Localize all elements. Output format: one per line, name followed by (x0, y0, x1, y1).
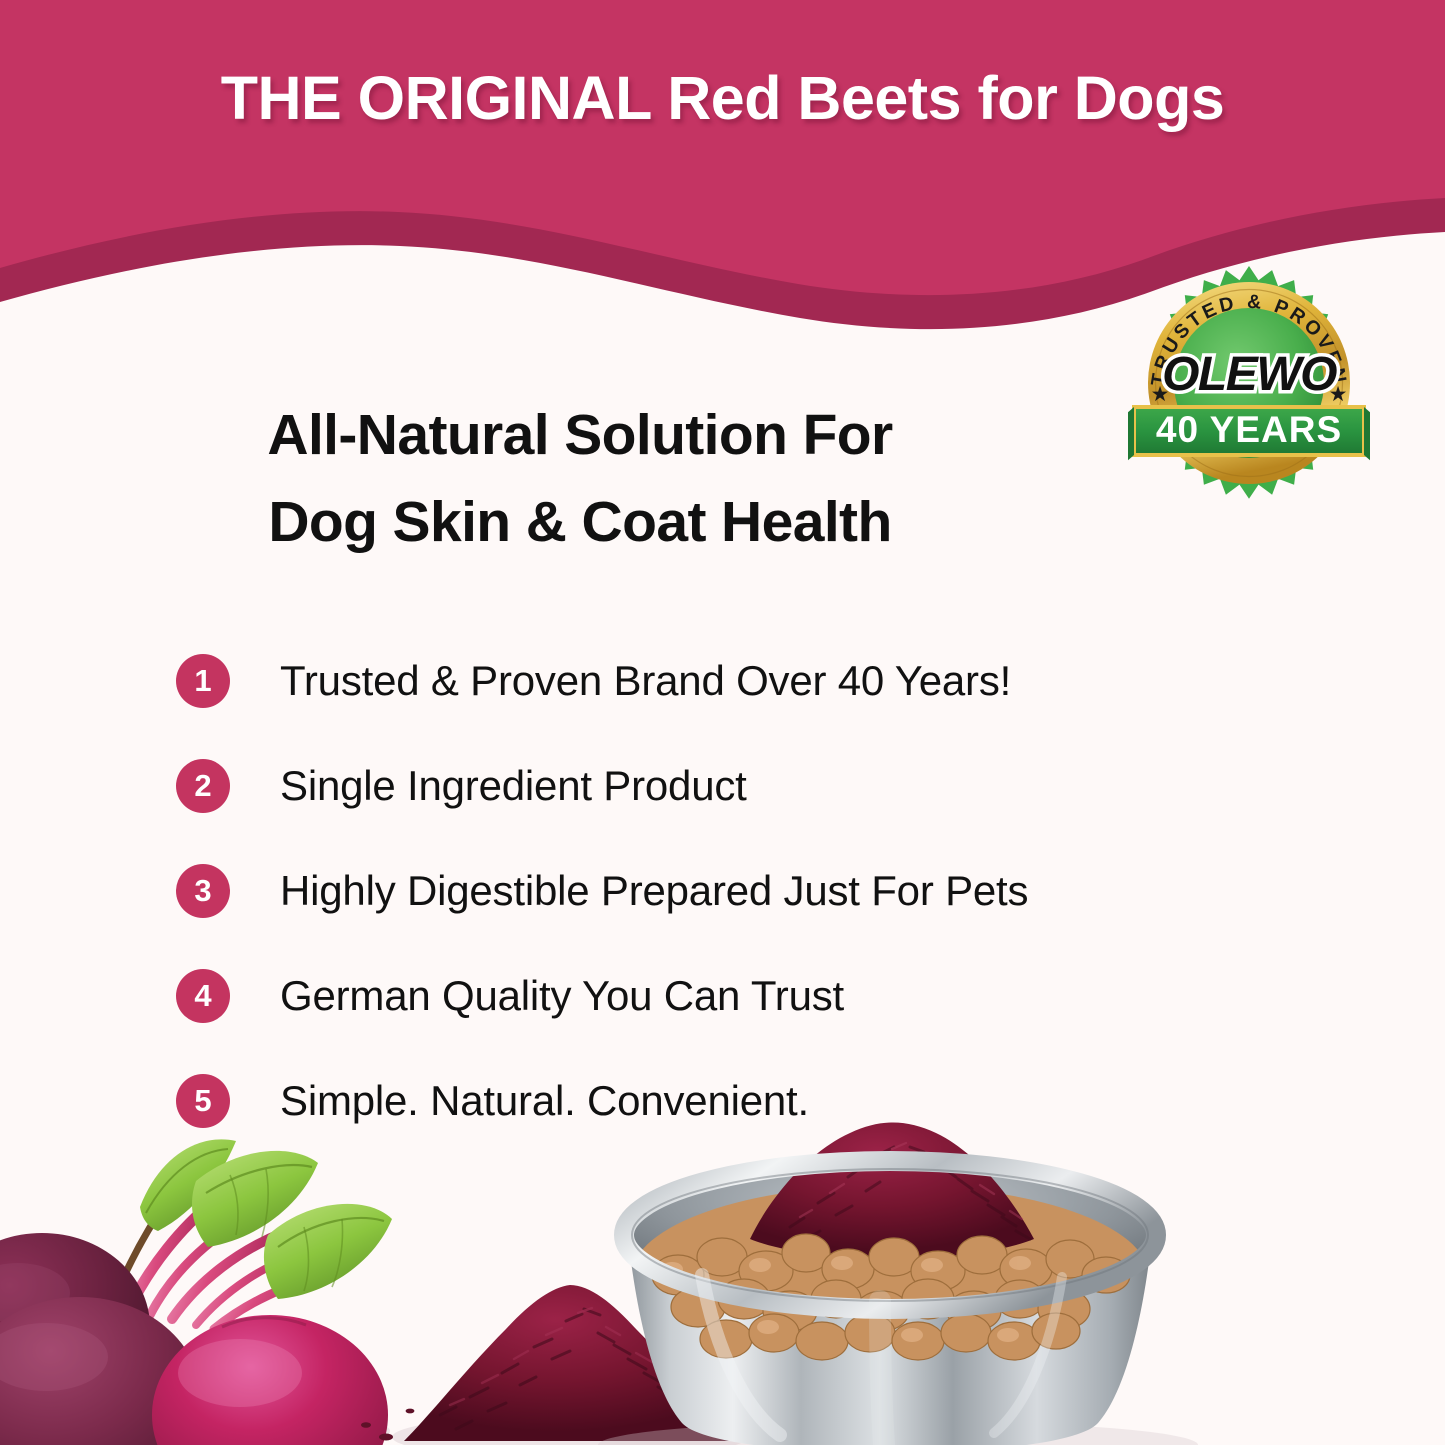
list-item: 5 Simple. Natural. Convenient. (176, 1048, 1356, 1153)
seal-ribbon: 40 YEARS (1128, 407, 1370, 462)
headline-line-2: Dog Skin & Coat Health (0, 479, 1160, 566)
list-item: 2 Single Ingredient Product (176, 733, 1356, 838)
list-number-badge: 4 (176, 969, 230, 1023)
list-item-label: German Quality You Can Trust (280, 972, 844, 1020)
seal-brand-wordmark: OLEWO (1162, 348, 1337, 401)
fresh-beets-image (0, 1139, 392, 1445)
feature-list: 1 Trusted & Proven Brand Over 40 Years! … (176, 628, 1356, 1153)
headline-line-1: All-Natural Solution For (0, 392, 1160, 479)
list-number-badge: 3 (176, 864, 230, 918)
dog-bowl-image (598, 1123, 1198, 1445)
infographic-page: THE ORIGINAL Red Beets for Dogs (0, 0, 1445, 1445)
list-item: 1 Trusted & Proven Brand Over 40 Years! (176, 628, 1356, 733)
list-item-label: Simple. Natural. Convenient. (280, 1077, 809, 1125)
olewo-trusted-proven-seal-badge: TRUSTED & PROVEN ★ ★ OLEWO 40 YEARS (1128, 262, 1370, 504)
headline: All-Natural Solution For Dog Skin & Coat… (0, 392, 1160, 565)
list-number-badge: 1 (176, 654, 230, 708)
list-item-label: Highly Digestible Prepared Just For Pets (280, 867, 1028, 915)
list-number-badge: 5 (176, 1074, 230, 1128)
product-imagery (0, 1115, 1445, 1445)
list-item-label: Trusted & Proven Brand Over 40 Years! (280, 657, 1011, 705)
page-title: THE ORIGINAL Red Beets for Dogs (0, 63, 1445, 133)
svg-text:OLEWO: OLEWO (1162, 348, 1337, 401)
list-item: 3 Highly Digestible Prepared Just For Pe… (176, 838, 1356, 943)
list-number-badge: 2 (176, 759, 230, 813)
seal-ribbon-text: 40 YEARS (1156, 409, 1342, 450)
list-item-label: Single Ingredient Product (280, 762, 747, 810)
list-item: 4 German Quality You Can Trust (176, 943, 1356, 1048)
